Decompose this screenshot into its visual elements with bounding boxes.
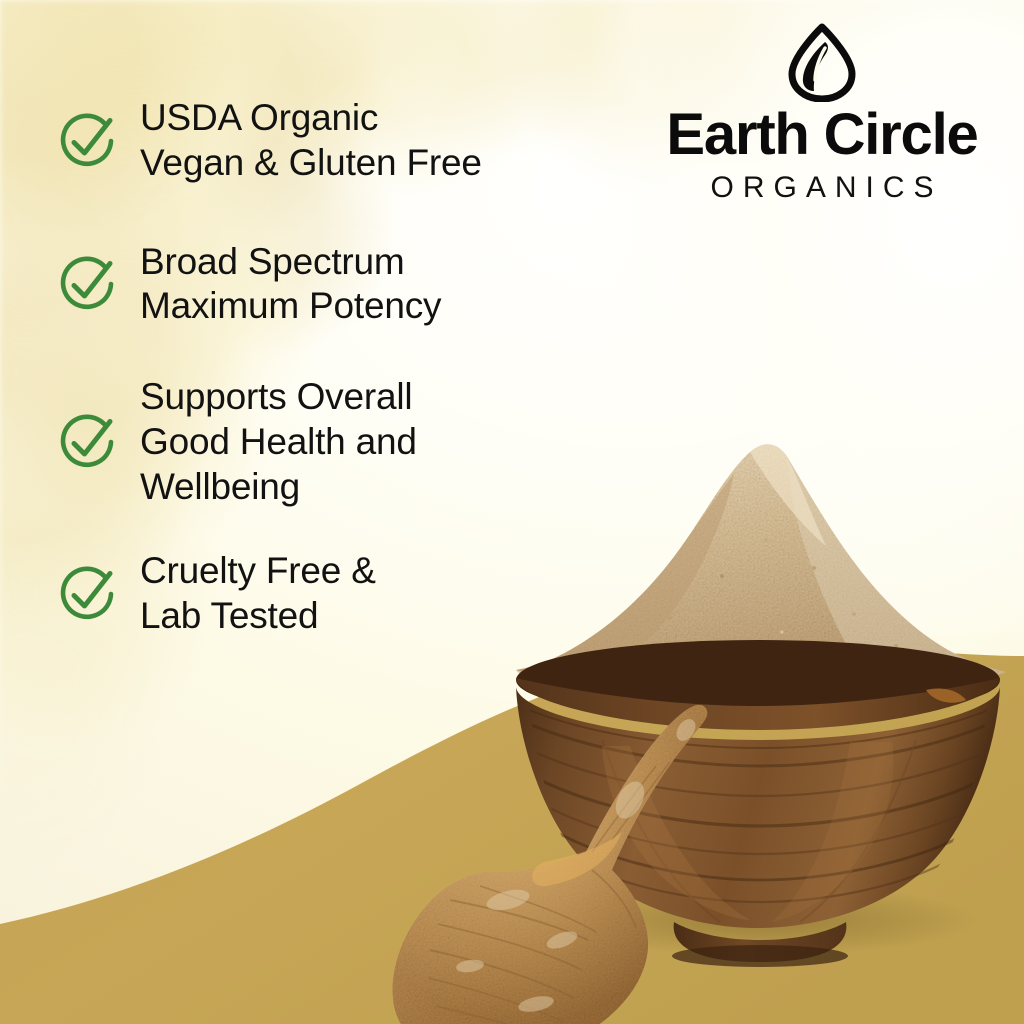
brand-logo: Earth Circle ORGANICS [640, 22, 1004, 203]
list-item-label: Broad Spectrum Maximum Potency [140, 240, 441, 330]
list-item: Supports Overall Good Health and Wellbei… [56, 375, 616, 509]
product-infographic: Earth Circle ORGANICS USDA Organic Vegan… [0, 0, 1024, 1024]
leaf-droplet-icon [785, 22, 859, 102]
list-item: Cruelty Free & Lab Tested [56, 549, 616, 639]
check-circle-icon [56, 253, 118, 315]
logo-subtext: ORGANICS [640, 173, 1004, 203]
list-item-label: Supports Overall Good Health and Wellbei… [140, 375, 417, 509]
list-item: Broad Spectrum Maximum Potency [56, 240, 616, 330]
logo-wordmark: Earth Circle [640, 106, 1004, 164]
list-item: USDA Organic Vegan & Gluten Free [56, 96, 616, 186]
check-circle-icon [56, 411, 118, 473]
benefits-list: USDA Organic Vegan & Gluten Free Broad S… [56, 96, 616, 673]
check-circle-icon [56, 110, 118, 172]
list-item-label: USDA Organic Vegan & Gluten Free [140, 96, 482, 186]
list-item-label: Cruelty Free & Lab Tested [140, 549, 376, 639]
check-circle-icon [56, 563, 118, 625]
